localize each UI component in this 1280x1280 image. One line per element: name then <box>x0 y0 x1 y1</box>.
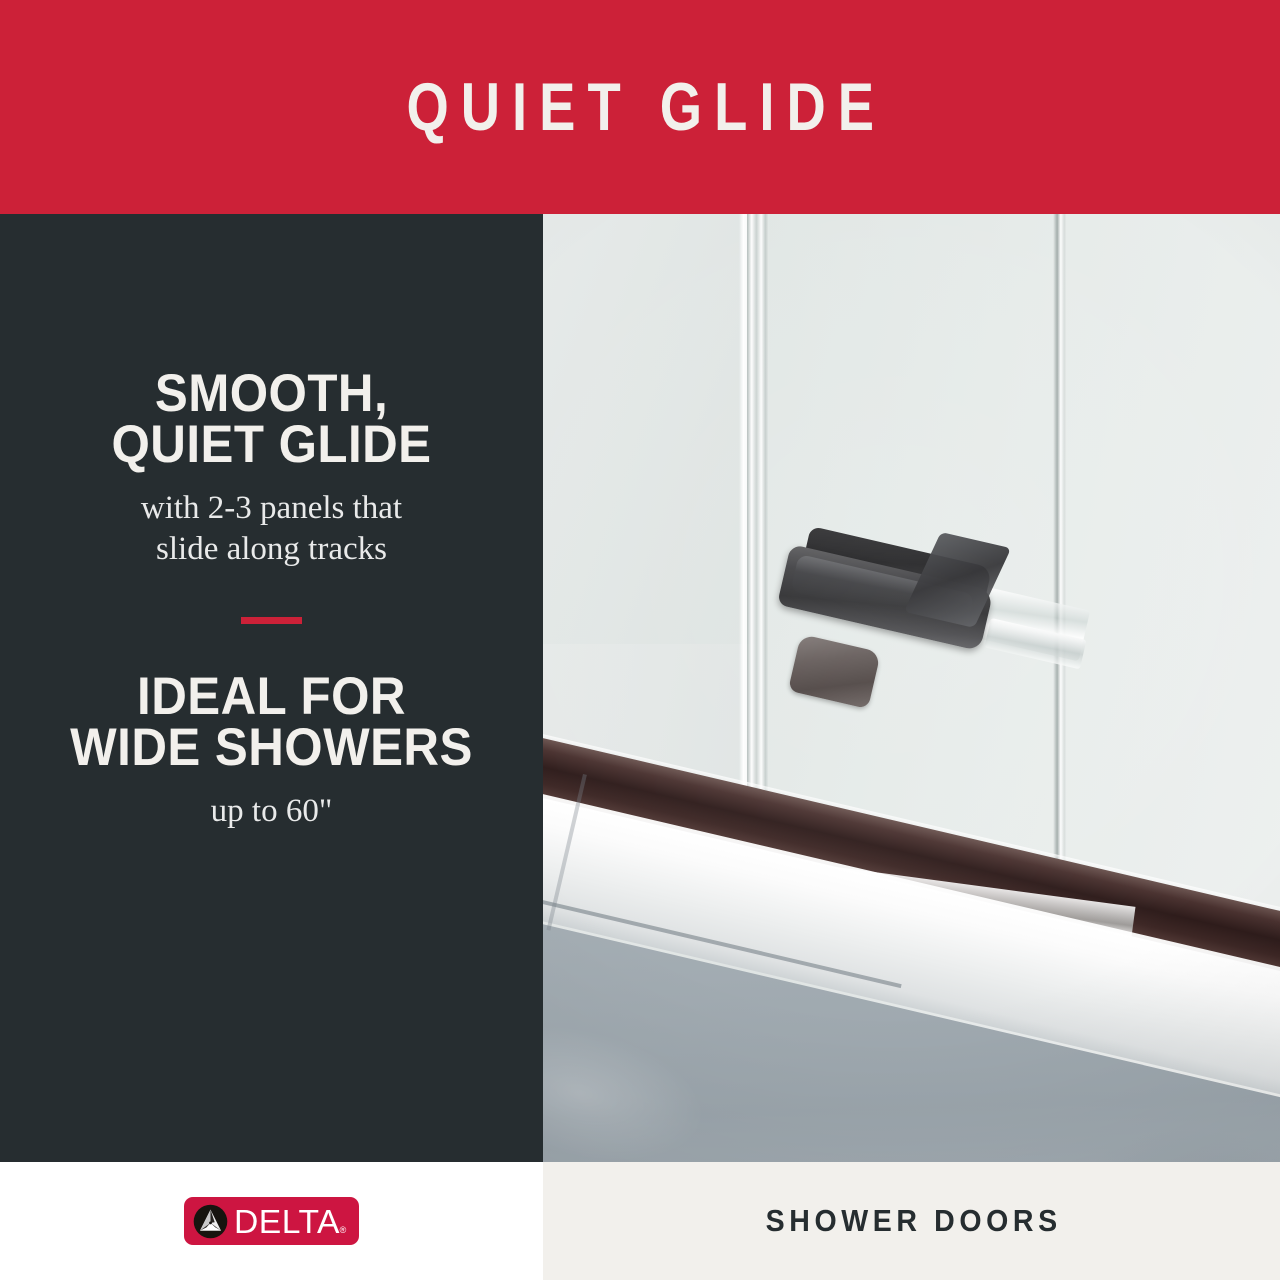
feature-headline-2: IDEAL FOR WIDE SHOWERS <box>19 671 524 773</box>
category-label: SHOWER DOORS <box>761 1203 1062 1239</box>
photo-vignette <box>543 214 1280 1162</box>
feature-panel: SMOOTH, QUIET GLIDE with 2-3 panels that… <box>0 214 543 1162</box>
footer: DELTA ® SHOWER DOORS <box>0 1162 1280 1280</box>
footer-brand-area: DELTA ® <box>0 1162 543 1280</box>
feature-subtext-1: with 2-3 panels that slide along tracks <box>0 488 543 570</box>
page-title: QUIET GLIDE <box>394 73 886 141</box>
product-photo <box>543 214 1280 1162</box>
infographic-page: QUIET GLIDE SMOOTH, QUIET GLIDE with 2-3… <box>0 0 1280 1280</box>
body-row: SMOOTH, QUIET GLIDE with 2-3 panels that… <box>0 214 1280 1162</box>
delta-wordmark: DELTA <box>234 1205 340 1238</box>
registered-trademark-icon: ® <box>340 1225 347 1235</box>
accent-divider <box>241 617 302 624</box>
delta-triangle-icon <box>193 1204 228 1239</box>
header-banner: QUIET GLIDE <box>0 0 1280 214</box>
footer-category-area: SHOWER DOORS <box>543 1162 1280 1280</box>
delta-logo: DELTA ® <box>184 1197 360 1245</box>
feature-headline-1: SMOOTH, QUIET GLIDE <box>19 368 524 470</box>
feature-block-2: IDEAL FOR WIDE SHOWERS up to 60" <box>0 671 543 832</box>
feature-subtext-2: up to 60" <box>0 791 543 832</box>
feature-block-1: SMOOTH, QUIET GLIDE with 2-3 panels that… <box>0 368 543 570</box>
